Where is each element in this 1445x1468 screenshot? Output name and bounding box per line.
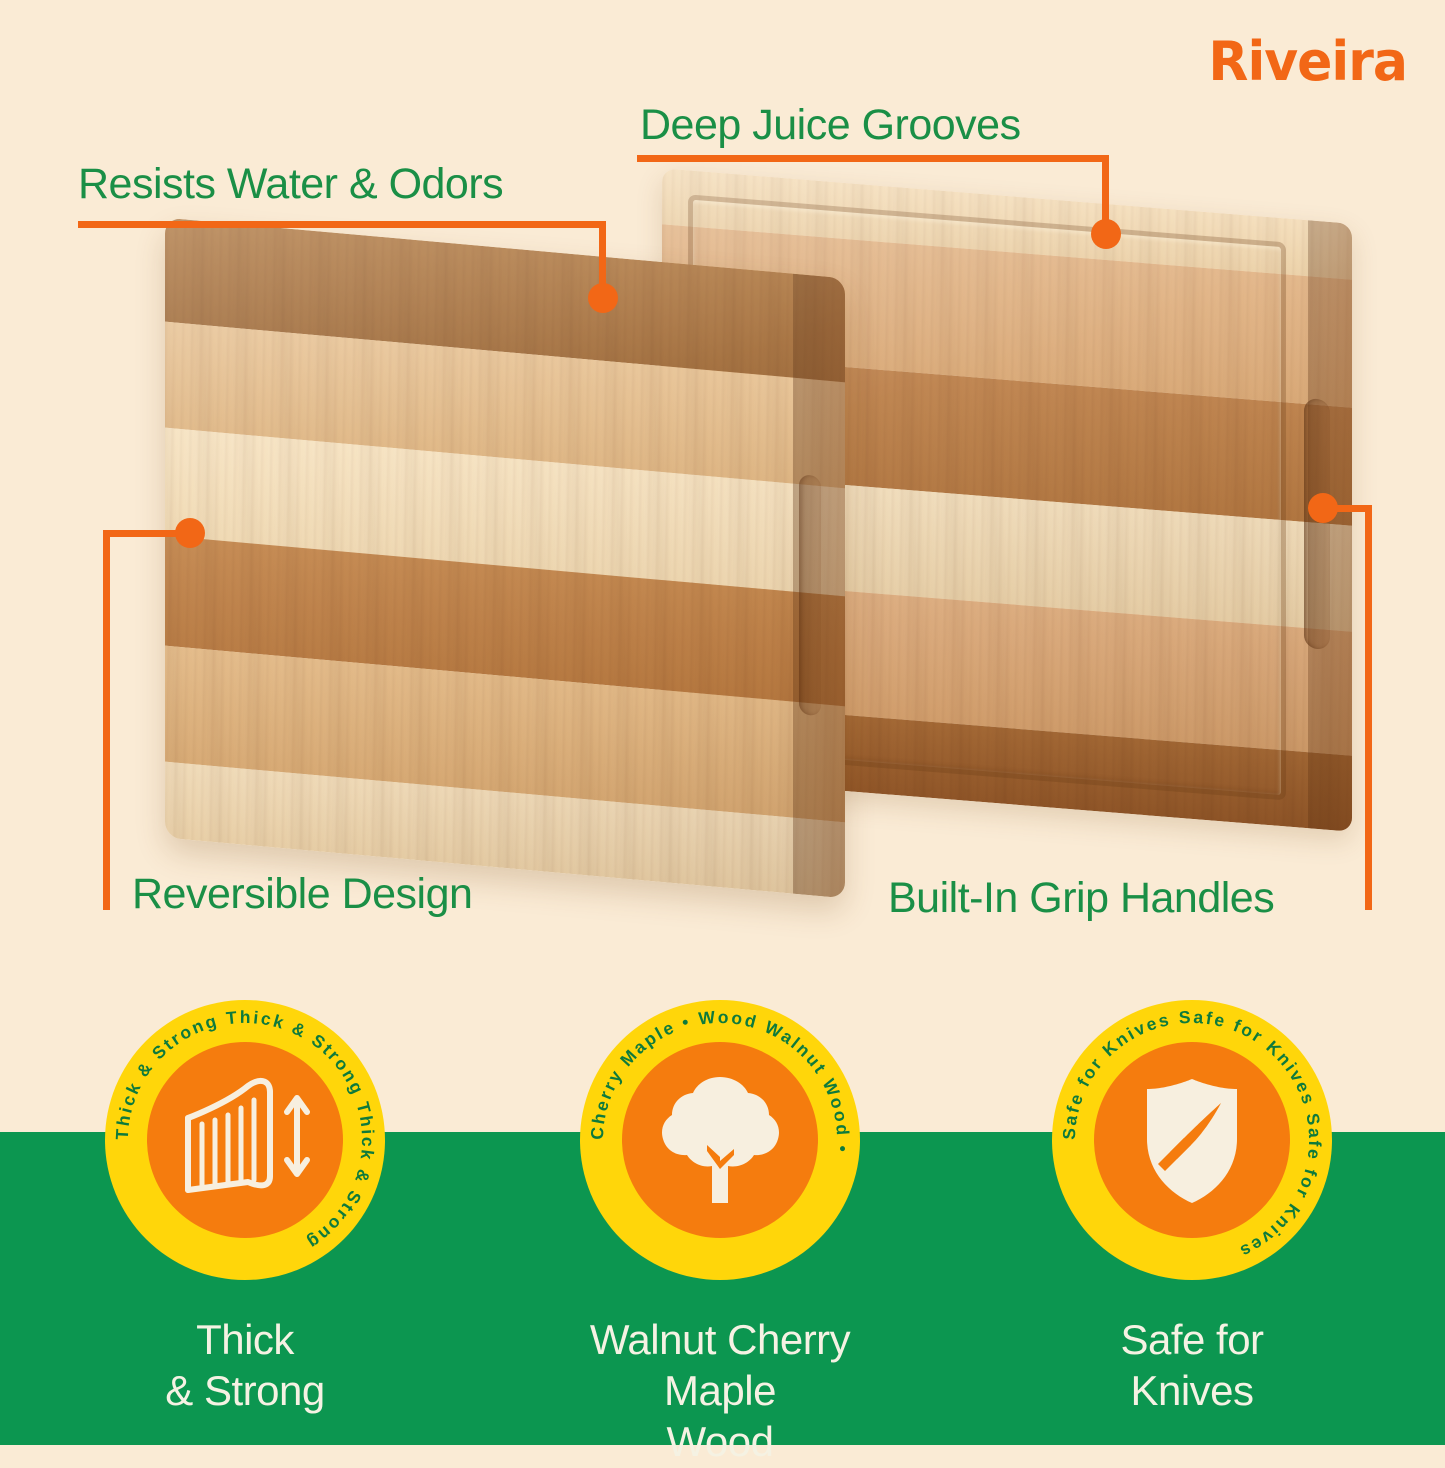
svg-text:Thick & Strong Thick & Strong: Thick & Strong Thick & Strong Thick & St… xyxy=(112,1007,378,1254)
callout-dot-built-in-grip-handles xyxy=(1308,493,1338,523)
board-front-wood-stripes xyxy=(165,218,845,899)
callout-label-built-in-grip-handles: Built-In Grip Handles xyxy=(888,874,1274,923)
svg-text:Cherry Maple • Wood Walnut Woo: Cherry Maple • Wood Walnut Wood • xyxy=(587,1007,853,1155)
badge-wood-types: Cherry Maple • Wood Walnut Wood • Walnut… xyxy=(570,1000,870,1468)
cutting-board-front xyxy=(165,218,845,899)
ring-text-path: Cherry Maple • Wood Walnut Wood • xyxy=(587,1007,853,1155)
brand-logo: Riveira xyxy=(1208,31,1407,94)
connector-line-deep-juice-grooves xyxy=(637,155,1109,162)
feature-badges: Thick & Strong Thick & Strong Thick & St… xyxy=(0,1000,1445,1280)
badge-circle: Cherry Maple • Wood Walnut Wood • xyxy=(580,1000,860,1280)
callout-dot-reversible-design xyxy=(175,518,205,548)
badge-circle: Safe for Knives Safe for Knives Safe for… xyxy=(1052,1000,1332,1280)
badge-ring-text: Safe for Knives Safe for Knives Safe for… xyxy=(1052,1000,1332,1280)
badge-ring-text: Cherry Maple • Wood Walnut Wood • xyxy=(580,1000,860,1280)
badge-circle: Thick & Strong Thick & Strong Thick & St… xyxy=(105,1000,385,1280)
badge-caption: Thick & Strong xyxy=(165,1314,324,1416)
callout-label-resists-water-odors: Resists Water & Odors xyxy=(78,160,503,209)
connector-line-reversible-design-vertical xyxy=(103,530,110,910)
callout-label-reversible-design: Reversible Design xyxy=(132,870,472,919)
connector-line-resists-water-odors-vertical xyxy=(599,221,606,291)
callout-dot-resists-water-odors xyxy=(588,283,618,313)
callout-label-deep-juice-grooves: Deep Juice Grooves xyxy=(640,101,1021,150)
board-edge-face xyxy=(1308,220,1352,832)
badge-thick-strong: Thick & Strong Thick & Strong Thick & St… xyxy=(95,1000,395,1416)
callout-dot-deep-juice-grooves xyxy=(1091,219,1121,249)
connector-line-built-in-grip-handles-vertical xyxy=(1365,505,1372,910)
connector-line-deep-juice-grooves-vertical xyxy=(1102,155,1109,228)
infographic-stage: Riveira Resists W xyxy=(0,0,1445,1445)
badge-caption: Safe for Knives xyxy=(1120,1314,1263,1416)
board-edge-face xyxy=(793,274,845,899)
badge-safe-for-knives: Safe for Knives Safe for Knives Safe for… xyxy=(1042,1000,1342,1416)
badge-ring-text: Thick & Strong Thick & Strong Thick & St… xyxy=(105,1000,385,1280)
ring-text-path: Safe for Knives Safe for Knives Safe for… xyxy=(1059,1007,1325,1263)
connector-line-resists-water-odors xyxy=(78,221,606,228)
ring-text-path: Thick & Strong Thick & Strong Thick & St… xyxy=(112,1007,378,1254)
svg-text:Safe for Knives Safe for Kniv: Safe for Knives Safe for Knives Safe for… xyxy=(1059,1007,1325,1263)
